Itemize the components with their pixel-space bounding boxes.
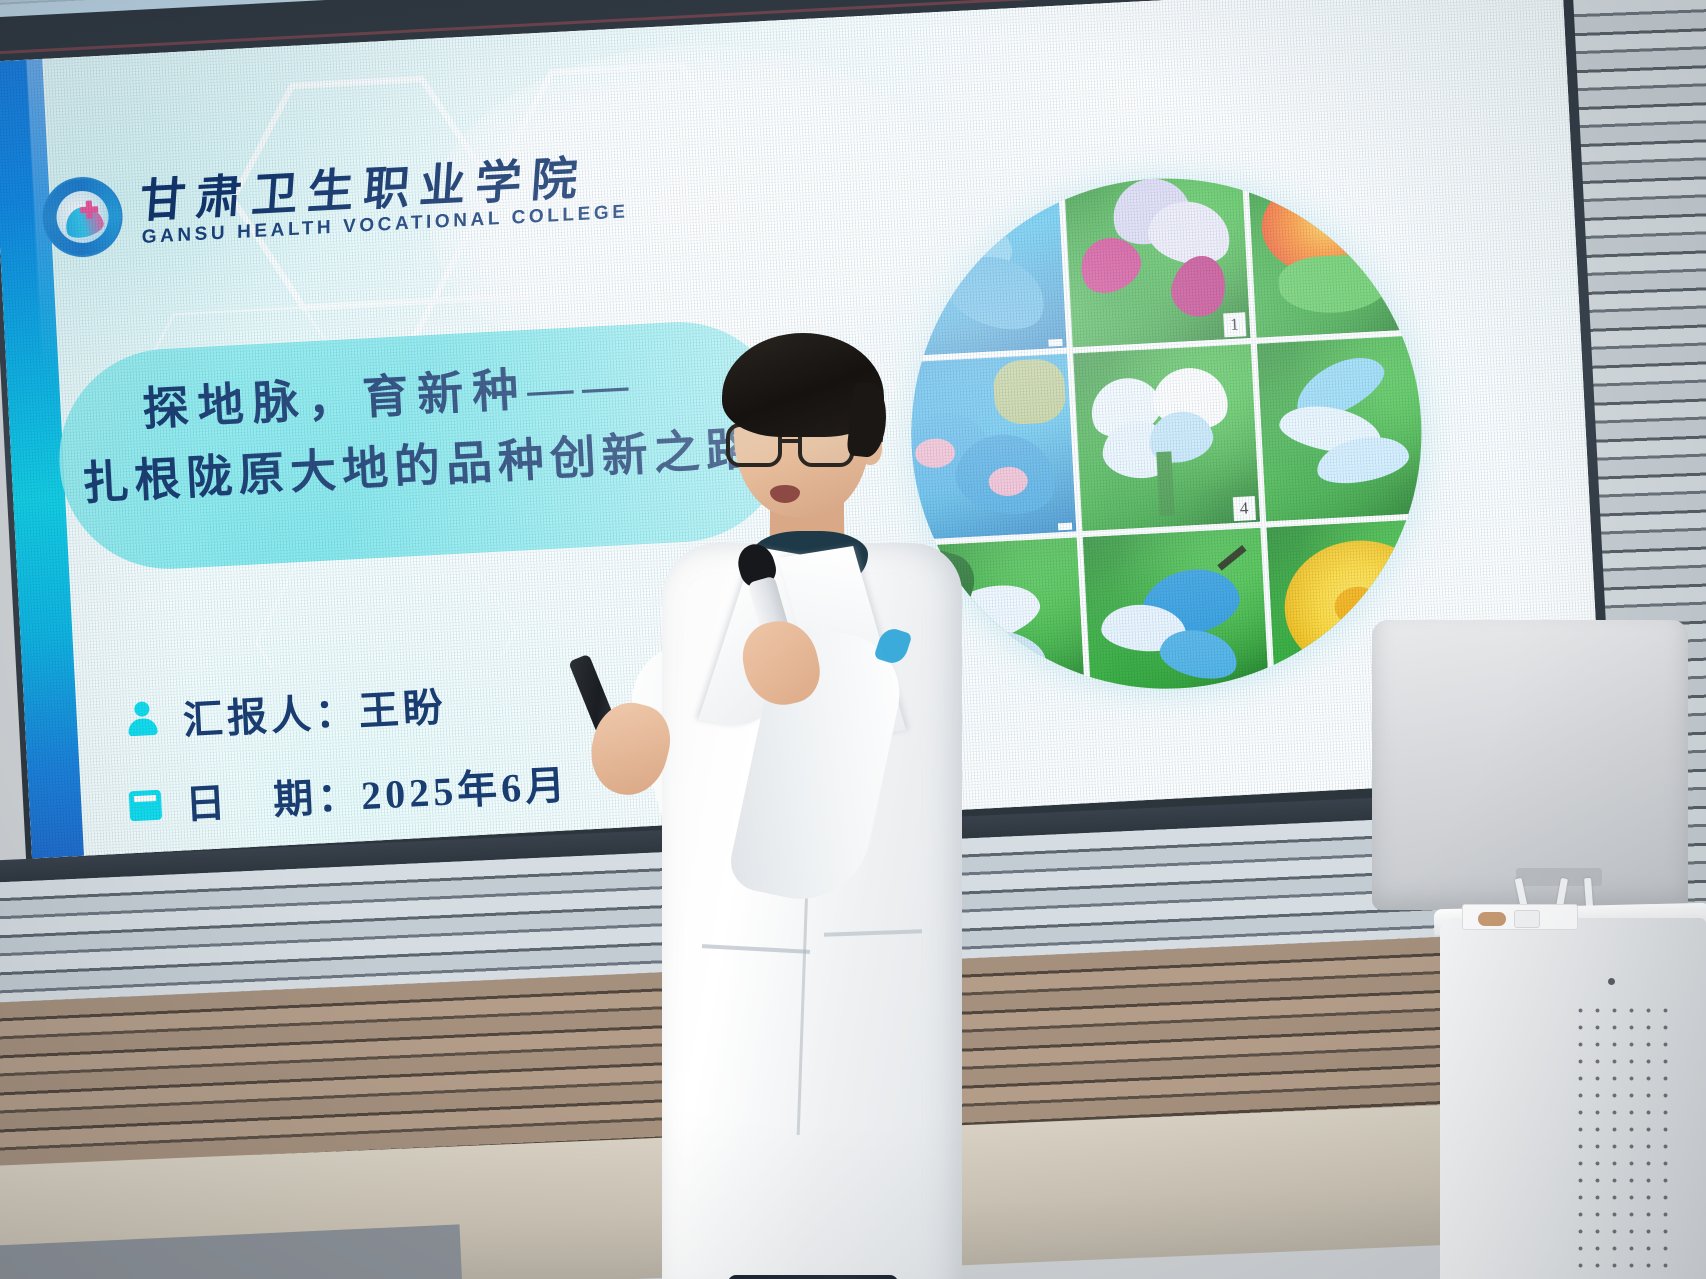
collage-cell: 6 xyxy=(1083,528,1270,702)
calendar-icon xyxy=(129,789,163,821)
seal-inner xyxy=(55,190,110,245)
collage-cell-number: 1 xyxy=(1223,312,1247,337)
collage-cell: 4 xyxy=(1073,344,1260,531)
presenter-trousers xyxy=(728,1275,898,1279)
podium-vent-hole xyxy=(1608,978,1615,985)
podium-tray-item xyxy=(1514,910,1540,928)
foliage xyxy=(993,357,1067,425)
presenter-label: 汇报人：王盼 xyxy=(181,675,448,747)
presenter xyxy=(556,335,976,1279)
collage-cell: 1 xyxy=(1063,166,1250,348)
podium-perforated-panel xyxy=(1572,1002,1668,1272)
eyeglass-bridge xyxy=(782,439,798,443)
slide-meta-block: 汇报人：王盼 日 期：2025年6月 xyxy=(123,668,570,833)
collage-cell xyxy=(898,170,1066,357)
person-icon xyxy=(124,701,160,739)
flower-collage-circle: 1 2 xyxy=(898,166,1434,702)
desktop-monitor-rear[interactable] xyxy=(1372,620,1688,910)
collage-cell-number xyxy=(1048,339,1062,347)
podium-tray-item xyxy=(1478,912,1506,926)
college-seal-logo-icon xyxy=(41,175,125,259)
collage-cell-number xyxy=(1058,523,1072,531)
flower-collage-grid: 1 2 xyxy=(898,166,1434,702)
collage-cell: 5 xyxy=(1257,334,1435,521)
lecture-hall-scene: 甘肃卫生职业学院 GANSU HEALTH VOCATIONAL COLLEGE… xyxy=(0,0,1706,1279)
medical-cross-icon xyxy=(80,200,99,219)
collage-cell-number: 4 xyxy=(1232,496,1256,521)
collage-cell: 2 xyxy=(1247,166,1434,338)
